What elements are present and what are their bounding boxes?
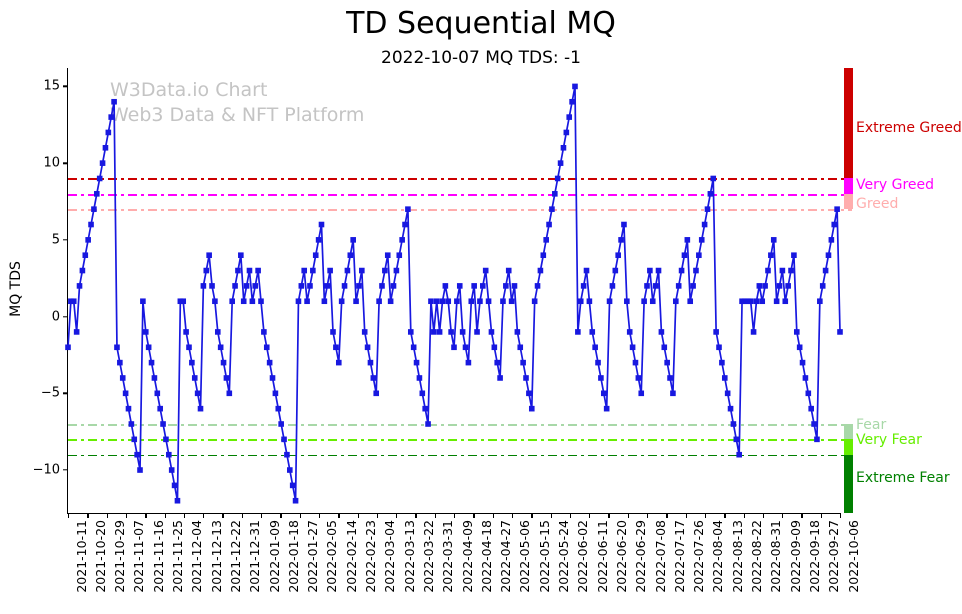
- data-point-marker: [284, 452, 290, 458]
- x-tick-label: 2021-11-25: [170, 520, 185, 593]
- data-point-marker: [192, 375, 198, 381]
- data-point-marker: [385, 252, 391, 258]
- data-point-marker: [371, 375, 377, 381]
- data-point-marker: [774, 298, 780, 304]
- legend-label-very-fear: Very Fear: [856, 432, 922, 448]
- data-point-marker: [391, 283, 397, 289]
- data-point-marker: [281, 437, 287, 443]
- data-point-marker: [520, 360, 526, 366]
- data-point-marker: [278, 421, 284, 427]
- legend-label-fear: Fear: [856, 417, 886, 433]
- x-tick-label: 2022-05-24: [556, 520, 571, 593]
- data-point-marker: [212, 298, 218, 304]
- x-tick-label: 2021-12-31: [247, 520, 262, 593]
- data-point-marker: [232, 283, 238, 289]
- data-point-marker: [203, 268, 209, 274]
- data-point-marker: [350, 237, 356, 243]
- data-point-marker: [708, 191, 714, 197]
- data-point-marker: [788, 268, 794, 274]
- data-point-marker: [503, 283, 509, 289]
- data-point-marker: [172, 483, 178, 489]
- data-point-marker: [437, 329, 443, 335]
- data-point-marker: [293, 498, 299, 504]
- data-point-marker: [463, 344, 469, 350]
- data-point-marker: [765, 268, 771, 274]
- data-point-marker: [379, 283, 385, 289]
- data-point-marker: [152, 375, 158, 381]
- data-point-marker: [601, 391, 607, 397]
- data-point-marker: [483, 268, 489, 274]
- x-tick-label: 2022-04-27: [498, 520, 513, 593]
- data-point-marker: [647, 268, 653, 274]
- x-tick-label: 2021-11-07: [131, 520, 146, 593]
- data-point-marker: [777, 283, 783, 289]
- data-point-marker: [85, 237, 91, 243]
- data-point-marker: [682, 252, 688, 258]
- data-point-marker: [757, 283, 763, 289]
- data-point-marker: [526, 391, 532, 397]
- data-point-marker: [322, 298, 328, 304]
- data-point-marker: [667, 375, 673, 381]
- data-point-marker: [748, 298, 754, 304]
- data-point-marker: [241, 298, 247, 304]
- data-point-marker: [460, 329, 466, 335]
- data-point-marker: [180, 298, 186, 304]
- data-point-marker: [500, 298, 506, 304]
- data-point-marker: [713, 329, 719, 335]
- x-tick-label: 2021-12-13: [209, 520, 224, 593]
- data-point-marker: [221, 360, 227, 366]
- x-tick-label: 2022-06-20: [614, 520, 629, 593]
- data-point-marker: [564, 130, 570, 136]
- data-point-marker: [561, 145, 567, 151]
- color-bar-segment-extreme-fear: [844, 455, 853, 513]
- x-tick-label: 2022-09-18: [807, 520, 822, 593]
- plot-area: 151050−5−10 2021-10-112021-10-202021-10-…: [68, 68, 840, 513]
- data-point-marker: [613, 268, 619, 274]
- data-point-marker: [762, 283, 768, 289]
- data-point-marker: [627, 329, 633, 335]
- data-point-marker: [163, 437, 169, 443]
- x-tick-label: 2022-01-09: [267, 520, 282, 593]
- data-point-marker: [195, 391, 201, 397]
- data-point-marker: [353, 298, 359, 304]
- data-point-marker: [108, 114, 114, 120]
- data-point-marker: [229, 298, 235, 304]
- data-point-marker: [702, 222, 708, 228]
- data-point-marker: [201, 283, 207, 289]
- data-point-marker: [264, 344, 270, 350]
- data-point-marker: [345, 268, 351, 274]
- data-point-marker: [474, 329, 480, 335]
- data-point-marker: [186, 344, 192, 350]
- data-point-marker: [255, 268, 261, 274]
- chart-title: TD Sequential MQ: [0, 6, 962, 41]
- data-point-marker: [638, 391, 644, 397]
- data-point-marker: [803, 375, 809, 381]
- data-point-marker: [342, 283, 348, 289]
- data-point-marker: [471, 283, 477, 289]
- data-point-marker: [80, 268, 86, 274]
- data-point-marker: [356, 283, 362, 289]
- legend-label-very-greed: Very Greed: [856, 177, 934, 193]
- data-point-marker: [791, 252, 797, 258]
- data-point-marker: [664, 360, 670, 366]
- data-point-marker: [227, 391, 233, 397]
- data-point-marker: [324, 283, 330, 289]
- data-point-marker: [506, 268, 512, 274]
- legend-label-extreme-fear: Extreme Fear: [856, 470, 950, 486]
- data-point-marker: [91, 206, 97, 212]
- data-point-marker: [656, 268, 662, 274]
- data-point-marker: [77, 283, 83, 289]
- x-tick-label: 2021-10-29: [112, 520, 127, 593]
- data-point-marker: [157, 406, 163, 412]
- data-point-marker: [307, 283, 313, 289]
- data-point-marker: [489, 329, 495, 335]
- data-point-marker: [359, 268, 365, 274]
- x-tick-label: 2022-05-15: [537, 520, 552, 593]
- x-tick-label: 2022-03-31: [440, 520, 455, 593]
- data-point-marker: [811, 421, 817, 427]
- data-point-marker: [555, 176, 561, 182]
- data-point-marker: [685, 237, 691, 243]
- data-point-marker: [88, 222, 94, 228]
- data-point-marker: [252, 283, 258, 289]
- data-point-marker: [800, 360, 806, 366]
- data-point-marker: [261, 329, 267, 335]
- data-point-marker: [411, 344, 417, 350]
- data-point-marker: [529, 406, 535, 412]
- data-point-marker: [258, 298, 264, 304]
- data-point-marker: [759, 298, 765, 304]
- data-point-marker: [445, 298, 451, 304]
- data-point-marker: [425, 421, 431, 427]
- data-point-marker: [595, 360, 601, 366]
- data-point-marker: [267, 360, 273, 366]
- series-line: [68, 86, 840, 500]
- data-point-marker: [224, 375, 230, 381]
- data-point-marker: [299, 283, 305, 289]
- data-point-marker: [296, 298, 302, 304]
- data-point-marker: [699, 237, 705, 243]
- data-point-marker: [831, 222, 837, 228]
- data-point-marker: [592, 344, 598, 350]
- x-tick-label: 2022-06-29: [633, 520, 648, 593]
- data-point-marker: [541, 252, 547, 258]
- data-point-marker: [676, 283, 682, 289]
- x-tick-label: 2022-02-05: [324, 520, 339, 593]
- data-point-marker: [399, 237, 405, 243]
- x-tick-label: 2022-06-02: [575, 520, 590, 593]
- data-point-marker: [402, 222, 408, 228]
- data-point-marker: [189, 360, 195, 366]
- data-point-marker: [451, 344, 457, 350]
- data-point-marker: [382, 268, 388, 274]
- data-point-marker: [641, 298, 647, 304]
- y-tick-label: 15: [10, 79, 60, 94]
- data-point-marker: [140, 298, 146, 304]
- color-bar-segment-greed: [844, 194, 853, 209]
- data-point-marker: [494, 360, 500, 366]
- data-point-marker: [250, 298, 256, 304]
- data-point-marker: [486, 298, 492, 304]
- data-point-marker: [497, 375, 503, 381]
- data-point-marker: [348, 252, 354, 258]
- data-point-marker: [287, 467, 293, 473]
- data-point-marker: [731, 421, 737, 427]
- legend-label-greed: Greed: [856, 196, 898, 212]
- data-point-marker: [405, 206, 411, 212]
- data-point-marker: [206, 252, 212, 258]
- y-tick-label: −10: [10, 463, 60, 478]
- data-point-marker: [644, 283, 650, 289]
- data-point-marker: [823, 268, 829, 274]
- x-tick-label: 2022-07-26: [691, 520, 706, 593]
- data-point-marker: [434, 298, 440, 304]
- data-point-marker: [417, 375, 423, 381]
- data-point-marker: [621, 222, 627, 228]
- data-point-marker: [218, 344, 224, 350]
- data-point-marker: [690, 283, 696, 289]
- data-point-marker: [492, 344, 498, 350]
- x-tick-label: 2022-07-17: [672, 520, 687, 593]
- color-bar-segment-fear: [844, 424, 853, 439]
- data-point-marker: [137, 467, 143, 473]
- data-point-marker: [131, 437, 137, 443]
- data-point-marker: [330, 329, 336, 335]
- data-point-marker: [794, 329, 800, 335]
- data-point-marker: [670, 391, 676, 397]
- data-point-marker: [696, 252, 702, 258]
- data-point-marker: [313, 252, 319, 258]
- data-point-marker: [373, 391, 379, 397]
- x-tick-label: 2022-03-04: [382, 520, 397, 593]
- data-point-marker: [273, 391, 279, 397]
- data-point-marker: [826, 252, 832, 258]
- data-point-marker: [754, 298, 760, 304]
- data-point-marker: [607, 298, 613, 304]
- data-point-marker: [572, 84, 578, 90]
- data-point-marker: [604, 406, 610, 412]
- x-tick-label: 2022-09-27: [826, 520, 841, 593]
- x-tick-label: 2021-12-04: [189, 520, 204, 593]
- color-bar-segment-very-greed: [844, 178, 853, 193]
- data-point-marker: [477, 298, 483, 304]
- data-point-marker: [209, 283, 215, 289]
- data-point-marker: [673, 298, 679, 304]
- data-point-marker: [408, 329, 414, 335]
- data-point-marker: [734, 437, 740, 443]
- data-point-marker: [235, 268, 241, 274]
- data-point-marker: [716, 344, 722, 350]
- x-tick-label: 2022-08-22: [749, 520, 764, 593]
- data-point-marker: [610, 283, 616, 289]
- data-point-marker: [736, 452, 742, 458]
- x-tick-label: 2021-11-16: [151, 520, 166, 593]
- data-point-marker: [636, 375, 642, 381]
- data-point-marker: [509, 298, 515, 304]
- data-point-marker: [797, 344, 803, 350]
- chart-root: TD Sequential MQ 2022-10-07 MQ TDS: -1 M…: [0, 0, 962, 614]
- x-tick-label: 2021-12-22: [228, 520, 243, 593]
- data-point-marker: [653, 283, 659, 289]
- data-point-marker: [808, 406, 814, 412]
- data-point-marker: [304, 298, 310, 304]
- data-point-marker: [65, 344, 71, 350]
- data-point-marker: [598, 375, 604, 381]
- data-point-marker: [301, 268, 307, 274]
- data-point-marker: [169, 467, 175, 473]
- data-point-marker: [751, 329, 757, 335]
- x-tick-label: 2022-08-31: [768, 520, 783, 593]
- x-tick-label: 2022-01-27: [305, 520, 320, 593]
- data-point-marker: [693, 268, 699, 274]
- y-tick-label: 5: [10, 232, 60, 247]
- data-point-marker: [517, 344, 523, 350]
- data-point-marker: [336, 360, 342, 366]
- data-point-marker: [74, 329, 80, 335]
- data-point-marker: [820, 283, 826, 289]
- data-point-marker: [633, 360, 639, 366]
- data-series: [68, 68, 850, 523]
- data-point-marker: [166, 452, 172, 458]
- legend-label-extreme-greed: Extreme Greed: [856, 120, 962, 136]
- data-point-marker: [659, 329, 665, 335]
- data-point-marker: [160, 421, 166, 427]
- x-tick-label: 2022-08-04: [710, 520, 725, 593]
- data-point-marker: [146, 344, 152, 350]
- data-point-marker: [290, 483, 296, 489]
- data-point-marker: [440, 298, 446, 304]
- data-point-marker: [388, 298, 394, 304]
- data-point-marker: [339, 298, 345, 304]
- data-point-marker: [443, 283, 449, 289]
- data-point-marker: [837, 329, 843, 335]
- y-tick-label: −5: [10, 386, 60, 401]
- data-point-marker: [722, 375, 728, 381]
- data-point-marker: [480, 283, 486, 289]
- data-point-marker: [578, 298, 584, 304]
- color-bar-segment-extreme-greed: [844, 68, 853, 178]
- data-point-marker: [552, 191, 558, 197]
- x-tick-label: 2022-09-09: [788, 520, 803, 593]
- data-point-marker: [175, 498, 181, 504]
- data-point-marker: [123, 391, 129, 397]
- data-point-marker: [515, 329, 521, 335]
- data-point-marker: [532, 298, 538, 304]
- data-point-marker: [244, 283, 250, 289]
- chart-subtitle: 2022-10-07 MQ TDS: -1: [0, 48, 962, 68]
- data-point-marker: [589, 329, 595, 335]
- data-point-marker: [275, 406, 281, 412]
- data-point-marker: [368, 360, 374, 366]
- data-point-marker: [414, 360, 420, 366]
- data-point-marker: [333, 344, 339, 350]
- x-tick-label: 2022-03-13: [402, 520, 417, 593]
- data-point-marker: [618, 237, 624, 243]
- x-tick-label: 2022-04-18: [479, 520, 494, 593]
- data-point-marker: [587, 298, 593, 304]
- data-point-marker: [581, 283, 587, 289]
- data-point-marker: [120, 375, 126, 381]
- data-point-marker: [679, 268, 685, 274]
- data-point-marker: [117, 360, 123, 366]
- data-point-marker: [100, 160, 106, 166]
- data-point-marker: [512, 283, 518, 289]
- data-point-marker: [270, 375, 276, 381]
- data-point-marker: [396, 252, 402, 258]
- data-point-marker: [143, 329, 149, 335]
- data-point-marker: [829, 237, 835, 243]
- data-point-marker: [310, 268, 316, 274]
- data-point-marker: [546, 222, 552, 228]
- data-point-marker: [710, 176, 716, 182]
- data-point-marker: [650, 298, 656, 304]
- data-point-marker: [362, 329, 368, 335]
- data-point-marker: [376, 298, 382, 304]
- data-point-marker: [719, 360, 725, 366]
- data-point-marker: [394, 268, 400, 274]
- data-point-marker: [94, 191, 100, 197]
- data-point-marker: [782, 298, 788, 304]
- data-point-marker: [183, 329, 189, 335]
- data-point-marker: [155, 391, 161, 397]
- x-tick-label: 2022-06-11: [595, 520, 610, 593]
- data-point-marker: [431, 329, 437, 335]
- x-tick-label: 2022-04-09: [460, 520, 475, 593]
- data-point-marker: [814, 437, 820, 443]
- x-tick-label: 2022-01-18: [286, 520, 301, 593]
- data-point-marker: [785, 283, 791, 289]
- data-point-marker: [198, 406, 204, 412]
- data-point-marker: [768, 252, 774, 258]
- data-point-marker: [543, 237, 549, 243]
- data-point-marker: [247, 268, 253, 274]
- data-point-marker: [428, 298, 434, 304]
- data-point-marker: [134, 452, 140, 458]
- data-point-marker: [422, 406, 428, 412]
- y-tick-label: 0: [10, 309, 60, 324]
- data-point-marker: [728, 406, 734, 412]
- x-tick-label: 2022-05-06: [517, 520, 532, 593]
- data-point-marker: [523, 375, 529, 381]
- data-point-marker: [466, 360, 472, 366]
- data-point-marker: [468, 298, 474, 304]
- data-point-marker: [630, 344, 636, 350]
- data-point-marker: [327, 268, 333, 274]
- data-point-marker: [149, 360, 155, 366]
- data-point-marker: [106, 130, 112, 136]
- data-point-marker: [615, 252, 621, 258]
- x-tick-label: 2022-07-08: [653, 520, 668, 593]
- data-point-marker: [624, 298, 630, 304]
- data-point-marker: [705, 206, 711, 212]
- data-point-marker: [111, 99, 117, 105]
- data-point-marker: [538, 268, 544, 274]
- data-point-marker: [566, 114, 572, 120]
- data-point-marker: [584, 268, 590, 274]
- data-point-marker: [569, 99, 575, 105]
- data-point-marker: [558, 160, 564, 166]
- data-point-marker: [780, 268, 786, 274]
- data-point-marker: [420, 391, 426, 397]
- data-point-marker: [103, 145, 109, 151]
- data-point-marker: [129, 421, 135, 427]
- data-point-marker: [661, 344, 667, 350]
- data-point-marker: [725, 391, 731, 397]
- data-point-marker: [687, 298, 693, 304]
